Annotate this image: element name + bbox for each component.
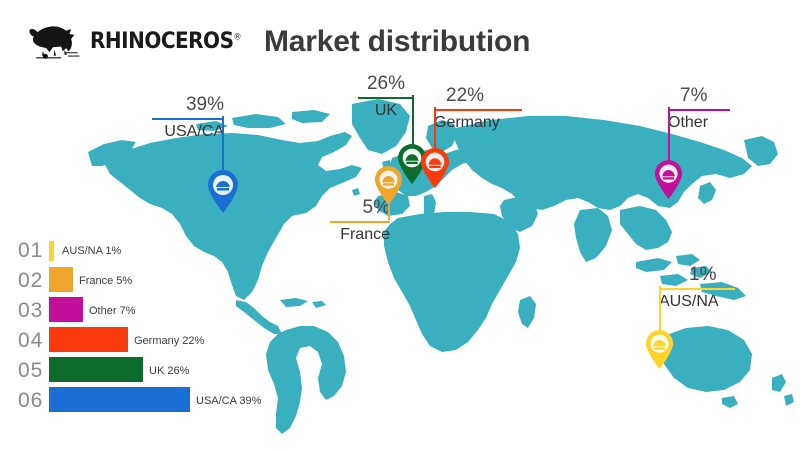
legend-item-03[interactable]: 03 Other 7%: [18, 296, 288, 326]
legend-label-germany: Germany 22%: [134, 335, 204, 347]
callout-uk-rule: [358, 97, 414, 99]
legend-item-02[interactable]: 02 France 5%: [18, 266, 288, 296]
callout-germany: 22% Germany: [434, 86, 522, 131]
map-pin-aus-na[interactable]: [645, 330, 674, 375]
map-pin-other[interactable]: [654, 160, 683, 205]
map-pin-germany[interactable]: [420, 148, 450, 194]
callout-germany-rule: [434, 109, 522, 111]
callout-germany-name: Germany: [434, 115, 500, 131]
legend-bar-other: [49, 297, 83, 322]
rhinoceros-logo-icon: [28, 18, 86, 60]
callout-uk-percent: 26%: [367, 74, 405, 93]
callout-aus-na-rule: [659, 288, 735, 290]
legend-bar-france: [49, 267, 73, 292]
callout-other-percent: 7%: [680, 86, 707, 105]
legend-label-uk: UK 26%: [149, 365, 189, 377]
legend-index-05: 05: [18, 359, 43, 383]
callout-other-name: Other: [668, 115, 708, 131]
legend-label-usa-ca: USA/CA 39%: [196, 395, 261, 407]
legend-item-04[interactable]: 04 Germany 22%: [18, 326, 288, 356]
legend-index-01: 01: [18, 239, 43, 263]
legend-item-05[interactable]: 05 UK 26%: [18, 356, 288, 386]
brand-name: RHINOCEROS®: [90, 29, 241, 51]
callout-france-name: France: [340, 227, 390, 243]
legend-index-02: 02: [18, 269, 43, 293]
legend: 01 AUS/NA 1% 02 France 5% 03 Other 7% 04…: [18, 236, 288, 416]
legend-label-aus-na: AUS/NA 1%: [62, 245, 121, 257]
legend-label-france: France 5%: [79, 275, 132, 287]
legend-index-04: 04: [18, 329, 43, 353]
callout-aus-na-name: AUS/NA: [659, 294, 719, 310]
legend-index-03: 03: [18, 299, 43, 323]
callout-germany-percent: 22%: [446, 86, 484, 105]
callout-usa-ca-connector: [222, 116, 224, 178]
callout-aus-na-percent: 1%: [689, 265, 716, 284]
callout-uk-name: UK: [375, 103, 397, 119]
brand-name-text: RHINOCEROS: [90, 27, 233, 54]
callout-uk: 26% UK: [358, 74, 414, 119]
callout-aus-na-connector: [659, 286, 661, 334]
registered-mark: ®: [233, 31, 241, 41]
callout-france-rule: [330, 221, 390, 223]
legend-bar-usa-ca: [49, 387, 190, 412]
callout-usa-ca-percent: 39%: [186, 95, 224, 114]
callout-usa-ca-rule: [152, 118, 224, 120]
page-title: Market distribution: [264, 25, 530, 59]
callout-aus-na: 1% AUS/NA: [659, 265, 735, 310]
map-pin-france[interactable]: [374, 166, 403, 211]
callout-usa-ca-name: USA/CA: [164, 124, 224, 140]
map-pin-usa-ca[interactable]: [207, 170, 239, 219]
brand-logo: RHINOCEROS®: [28, 18, 241, 60]
callout-other: 7% Other: [668, 86, 730, 131]
legend-item-01[interactable]: 01 AUS/NA 1%: [18, 236, 288, 266]
legend-label-other: Other 7%: [89, 305, 135, 317]
infographic-canvas: RHINOCEROS® Market distribution 39% USA/…: [0, 0, 800, 449]
legend-item-06[interactable]: 06 USA/CA 39%: [18, 386, 288, 416]
callout-other-connector: [668, 107, 670, 165]
callout-other-rule: [668, 109, 730, 111]
legend-bar-germany: [49, 327, 128, 352]
callout-usa-ca: 39% USA/CA: [152, 95, 224, 140]
legend-index-06: 06: [18, 389, 43, 413]
legend-bar-aus-na: [49, 241, 54, 261]
legend-bar-uk: [49, 357, 143, 382]
